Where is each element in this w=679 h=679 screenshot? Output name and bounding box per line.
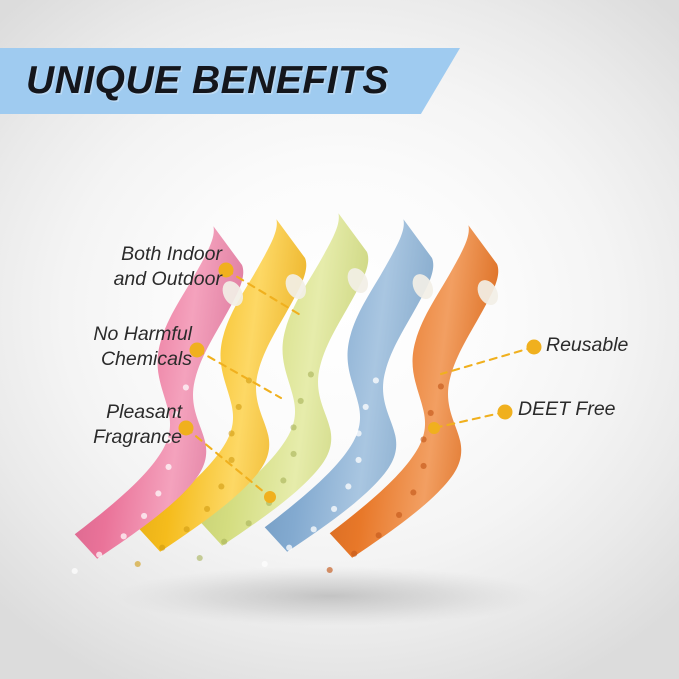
callout-label-reusable: Reusable	[546, 333, 674, 358]
callout-label-deet-free: DEET Free	[518, 397, 658, 422]
callout-label-both-indoor-and-outdoor: Both Indoor and Outdoor	[62, 242, 222, 291]
infographic-canvas: UNIQUE BENEFITS	[0, 0, 679, 679]
callout-label-pleasant-fragrance: Pleasant Fragrance	[22, 400, 182, 449]
product-shadow	[115, 566, 545, 626]
callout-label-no-harmful-chemicals: No Harmful Chemicals	[32, 322, 192, 371]
